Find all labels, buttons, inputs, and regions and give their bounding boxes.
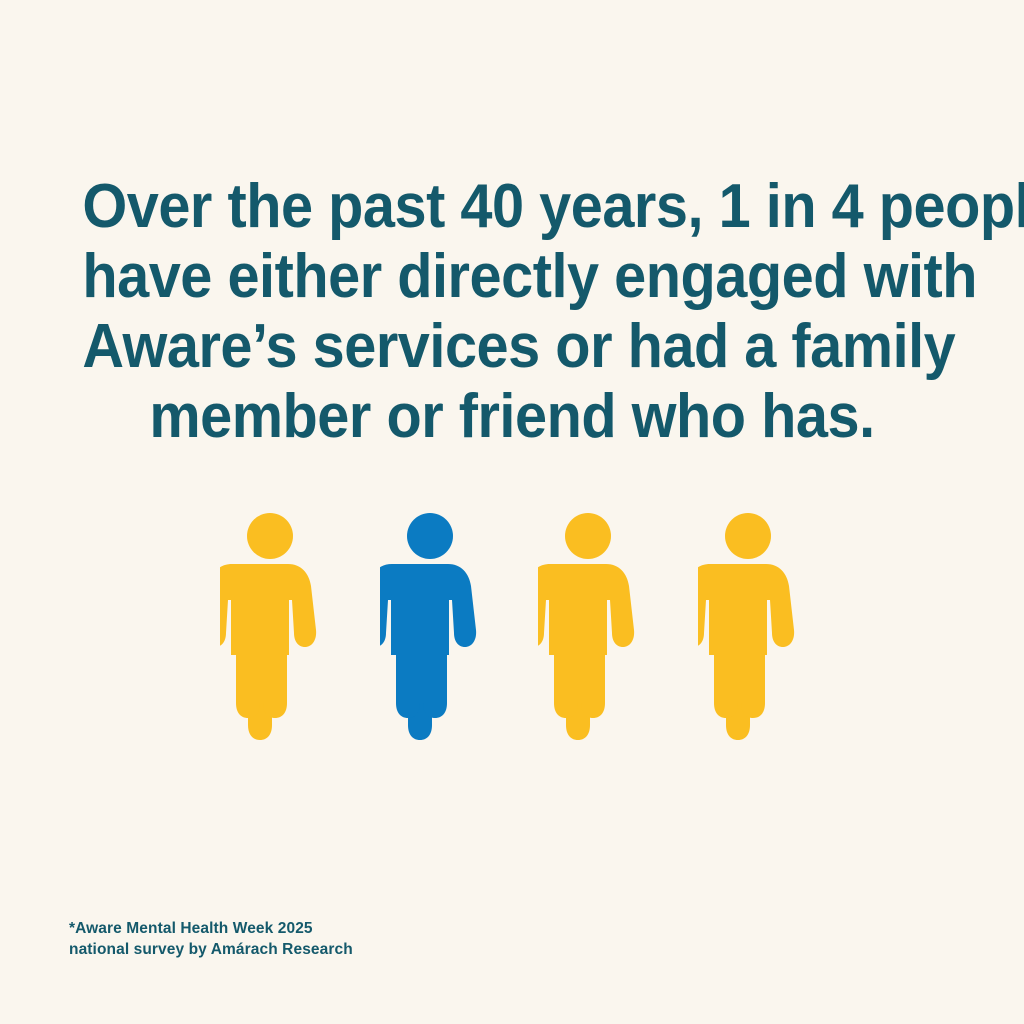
person-figure-icon bbox=[698, 505, 798, 753]
person-figure-3 bbox=[538, 505, 638, 753]
person-figure-1-fill bbox=[220, 513, 316, 740]
person-figure-4-fill bbox=[698, 513, 794, 740]
person-figure-1 bbox=[220, 505, 320, 753]
page-title: Over the past 40 years, 1 in 4 people ha… bbox=[82, 172, 941, 452]
person-figure-4 bbox=[698, 505, 798, 753]
infographic-poster: Over the past 40 years, 1 in 4 people ha… bbox=[0, 0, 1024, 1024]
person-figure-icon bbox=[220, 505, 320, 753]
person-figure-icon bbox=[538, 505, 638, 753]
headline-line-1: Over the past 40 years, 1 in 4 people bbox=[82, 172, 941, 242]
headline-line-3: Aware’s services or had a family bbox=[82, 312, 941, 382]
headline-line-4: member or friend who has. bbox=[82, 382, 941, 452]
headline-line-2: have either directly engaged with bbox=[82, 242, 941, 312]
person-figure-2-highlighted bbox=[380, 505, 480, 753]
source-footnote: *Aware Mental Health Week 2025 national … bbox=[69, 918, 353, 960]
pictogram-chart bbox=[0, 505, 1024, 755]
person-figure-2-fill bbox=[380, 513, 476, 740]
footnote-line-2: national survey by Amárach Research bbox=[69, 939, 353, 960]
footnote-line-1: *Aware Mental Health Week 2025 bbox=[69, 918, 353, 939]
person-figure-icon bbox=[380, 505, 480, 753]
person-figure-3-fill bbox=[538, 513, 634, 740]
